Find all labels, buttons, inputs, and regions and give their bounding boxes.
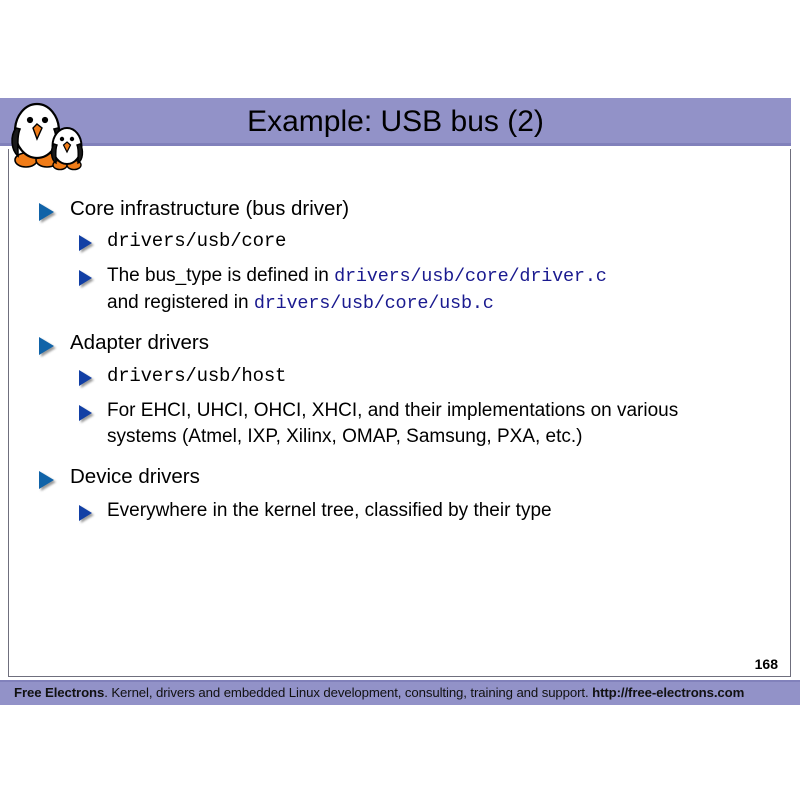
slide-content-area: Core infrastructure (bus driver) drivers… (8, 149, 791, 677)
footer-text: Free Electrons. Kernel, drivers and embe… (14, 685, 744, 700)
bullet-text: The bus_type is defined in drivers/usb/c… (107, 263, 607, 317)
bullet-triangle-icon (39, 337, 59, 355)
code-path: drivers/usb/host (107, 363, 286, 389)
code-path-usb-c: drivers/usb/core/usb.c (254, 293, 494, 314)
bullet-triangle-icon (39, 203, 59, 221)
bullet-adapter-drivers: Adapter drivers (39, 329, 769, 356)
code-path: drivers/usb/core (107, 228, 286, 254)
bullet-everywhere-kernel-tree: Everywhere in the kernel tree, classifie… (79, 498, 769, 524)
code-path-driver-c: drivers/usb/core/driver.c (334, 266, 607, 287)
bullet-text: Everywhere in the kernel tree, classifie… (107, 498, 552, 524)
bus-type-line1-label: The bus_type is defined in (107, 265, 334, 286)
bullet-text: Adapter drivers (70, 329, 209, 356)
slide-footer: Free Electrons. Kernel, drivers and embe… (0, 680, 800, 705)
bullet-triangle-icon (39, 471, 59, 489)
bullet-text: Core infrastructure (bus driver) (70, 195, 349, 222)
bullet-triangle-icon (79, 370, 97, 386)
bullet-triangle-icon (79, 505, 97, 521)
bullet-triangle-icon (79, 405, 97, 421)
bullet-list: Core infrastructure (bus driver) drivers… (39, 195, 769, 525)
page-title: Example: USB bus (2) (0, 102, 791, 142)
footer-description: . Kernel, drivers and embedded Linux dev… (104, 685, 592, 700)
bullet-drivers-usb-host: drivers/usb/host (79, 363, 769, 389)
bullet-triangle-icon (79, 235, 97, 251)
page-number: 168 (755, 656, 778, 672)
bullet-device-drivers: Device drivers (39, 463, 769, 490)
free-electrons-penguins-logo (6, 94, 92, 172)
bullet-triangle-icon (79, 270, 97, 286)
bullet-drivers-usb-core: drivers/usb/core (79, 228, 769, 254)
bullet-hci-implementations: For EHCI, UHCI, OHCI, XHCI, and their im… (79, 398, 769, 450)
footer-brand: Free Electrons (14, 685, 104, 700)
bus-type-line2-label: and registered in (107, 292, 254, 313)
slide-canvas: Example: USB bus (2) (0, 0, 800, 800)
bullet-bus-type-location: The bus_type is defined in drivers/usb/c… (79, 263, 769, 317)
bullet-text: Device drivers (70, 463, 200, 490)
footer-url[interactable]: http://free-electrons.com (592, 685, 744, 700)
bullet-core-infrastructure: Core infrastructure (bus driver) (39, 195, 769, 222)
bullet-text: For EHCI, UHCI, OHCI, XHCI, and their im… (107, 398, 747, 450)
